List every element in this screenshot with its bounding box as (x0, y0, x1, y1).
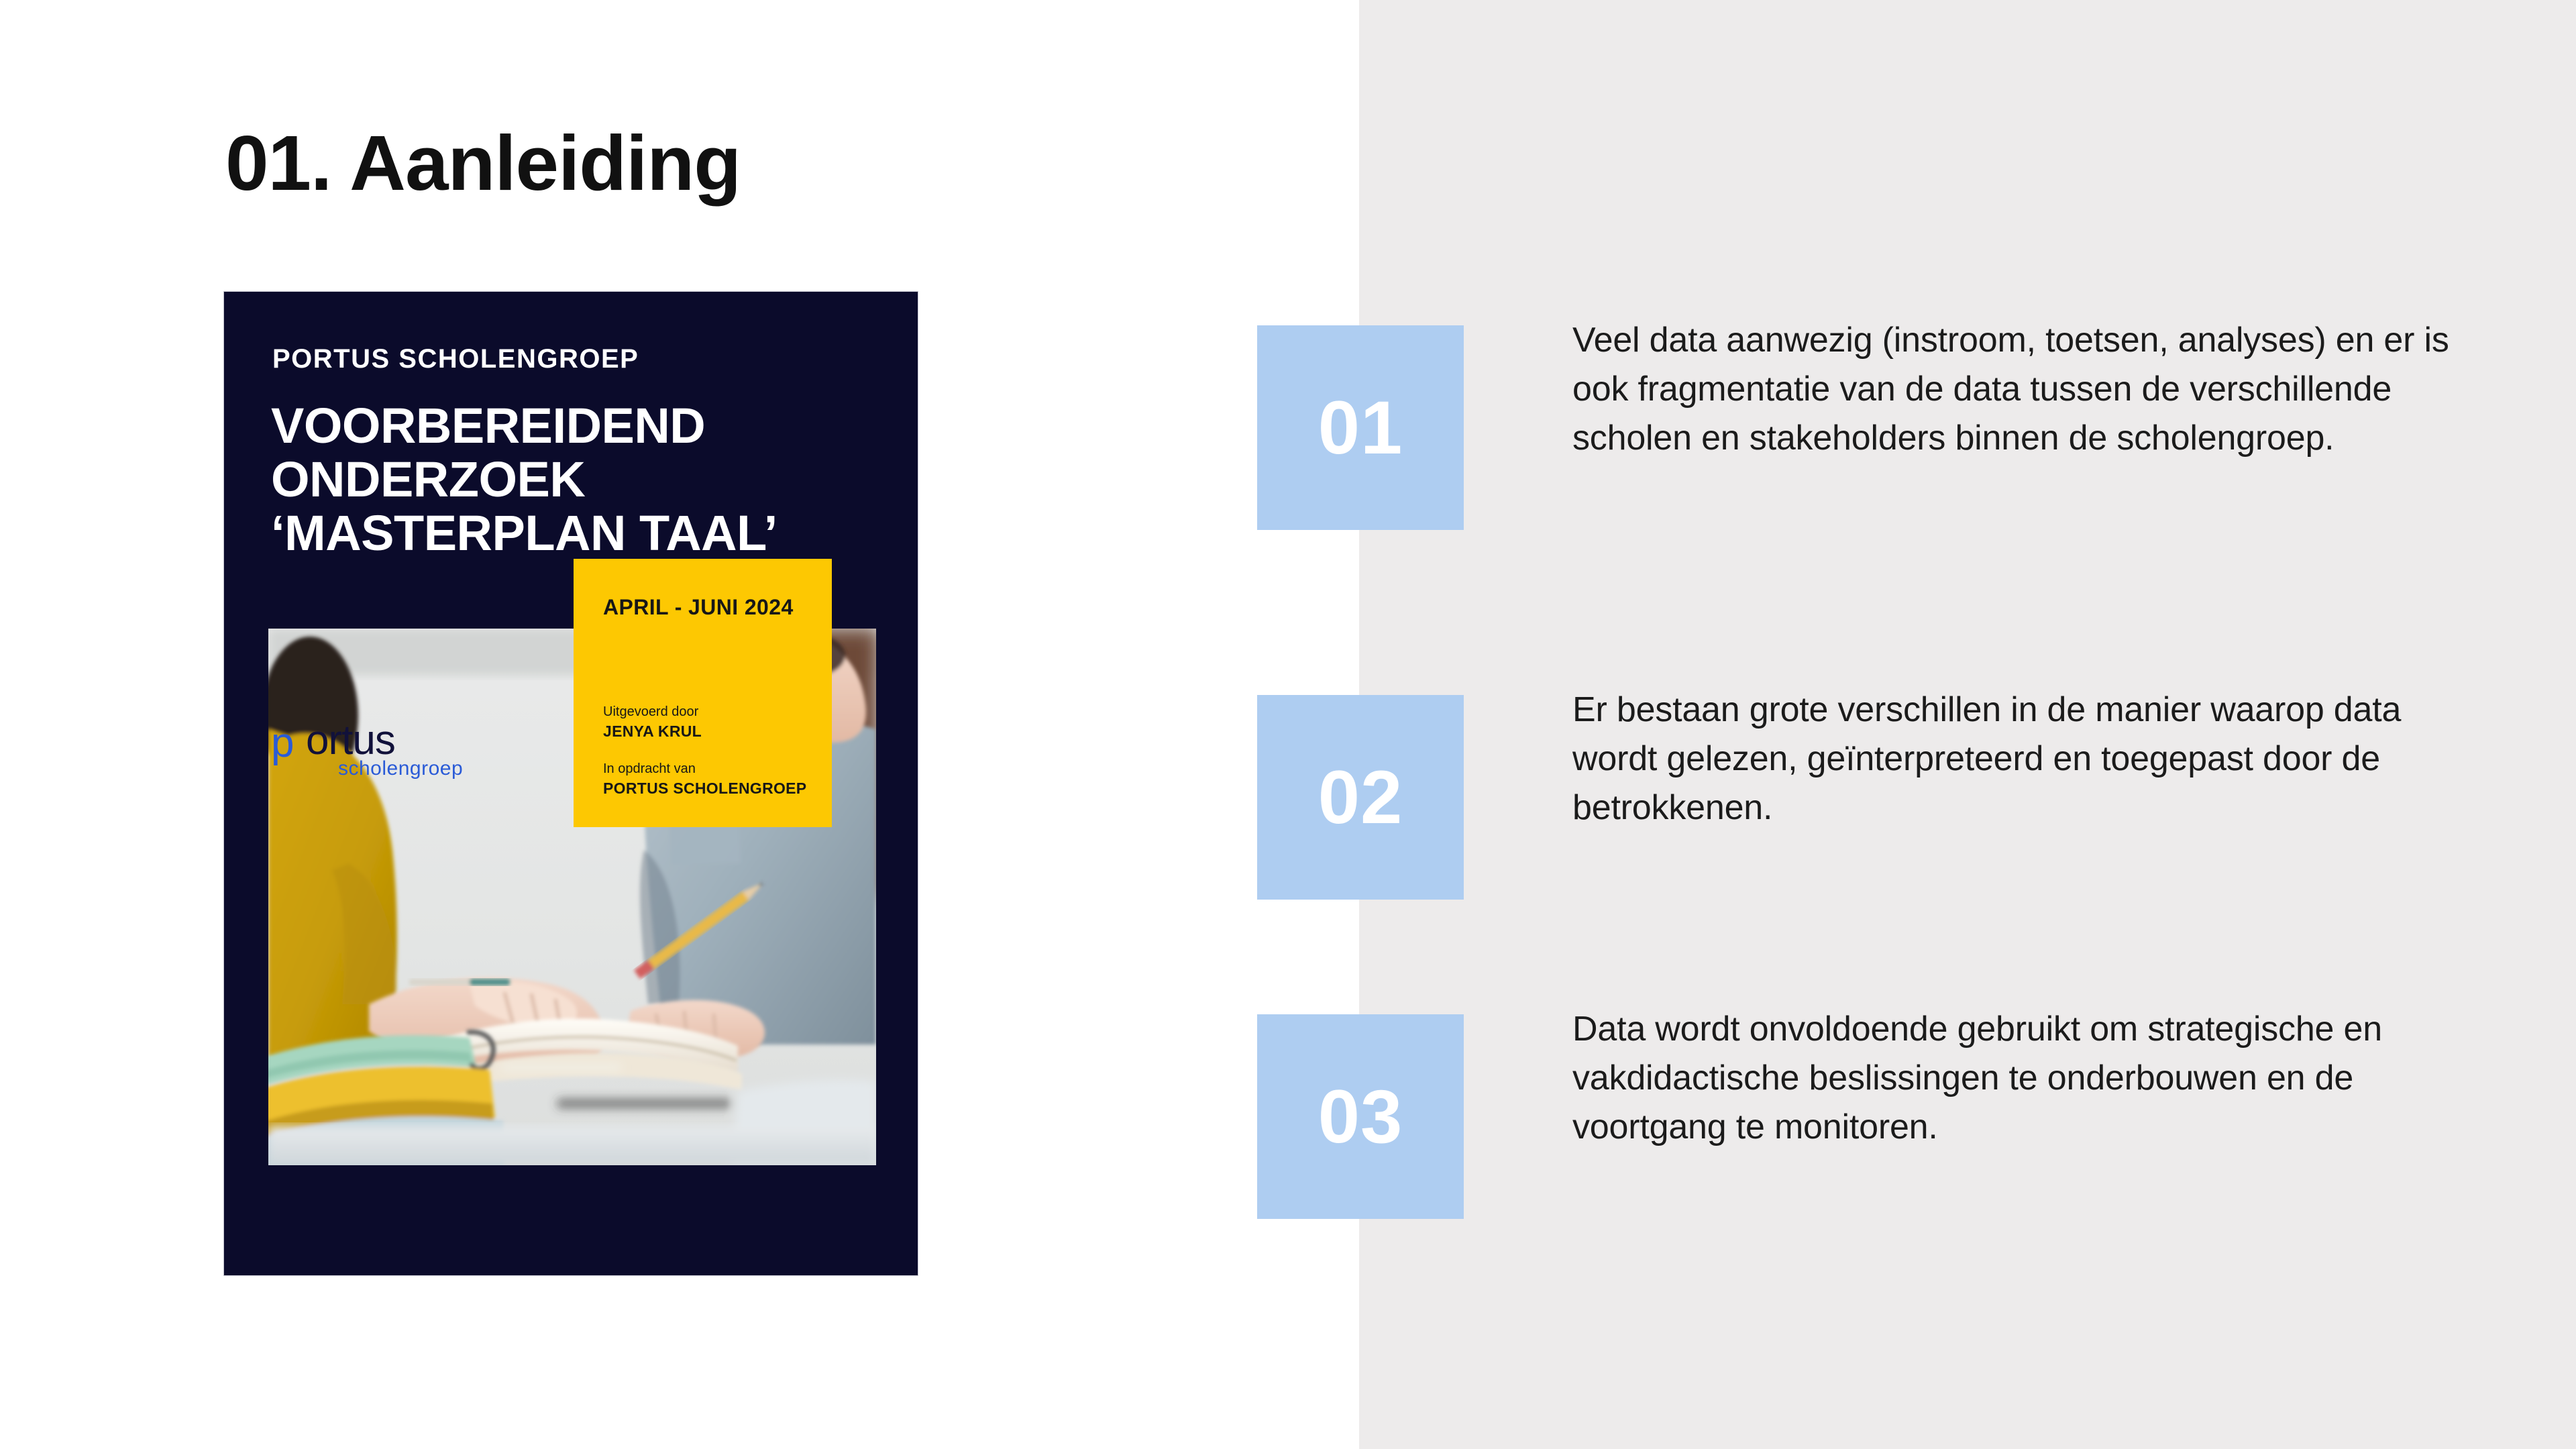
cover-executed-by-value: JENYA KRUL (603, 721, 702, 742)
finding-text-02: Er bestaan grote verschillen in de manie… (1572, 686, 2471, 832)
finding-badge-02: 02 (1257, 695, 1464, 900)
page-title: 01. Aanleiding (225, 121, 741, 207)
finding-badge-03: 03 (1257, 1014, 1464, 1219)
cover-executed-by-label: Uitgevoerd door (603, 703, 702, 721)
finding-badge-number-01: 01 (1318, 390, 1403, 466)
cover-title: VOORBEREIDEND ONDERZOEK ‘MASTERPLAN TAAL… (271, 399, 875, 560)
cover-period-label: APRIL - JUNI 2024 (603, 595, 794, 620)
portus-logo-p-icon: p (271, 722, 293, 764)
cover-commissioned-by-label: In opdracht van (603, 760, 806, 778)
finding-badge-number-02: 02 (1318, 760, 1403, 835)
portus-logo-wordmark: p ortus (271, 720, 472, 761)
finding-badge-number-03: 03 (1318, 1079, 1403, 1155)
finding-item-01: 01 Veel data aanwezig (instroom, toetsen… (1257, 325, 2471, 530)
finding-text-01: Veel data aanwezig (instroom, toetsen, a… (1572, 316, 2471, 462)
cover-commissioned-by-value: PORTUS SCHOLENGROEP (603, 778, 806, 799)
finding-text-03: Data wordt onvoldoende gebruikt om strat… (1572, 1005, 2471, 1151)
cover-brand-label: PORTUS SCHOLENGROEP (272, 344, 639, 374)
report-cover-image: PORTUS SCHOLENGROEP VOORBEREIDEND ONDERZ… (224, 292, 918, 1275)
cover-info-box: APRIL - JUNI 2024 Uitgevoerd door JENYA … (574, 559, 832, 827)
portus-logo: p ortus scholengroep (271, 720, 472, 797)
portus-logo-word: ortus (306, 717, 395, 763)
finding-item-02: 02 Er bestaan grote verschillen in de ma… (1257, 695, 2471, 900)
finding-item-03: 03 Data wordt onvoldoende gebruikt om st… (1257, 1014, 2471, 1219)
cover-commissioned-by-block: In opdracht van PORTUS SCHOLENGROEP (603, 760, 806, 799)
slide-canvas: 01. Aanleiding PORTUS SCHOLENGROEP VOORB… (0, 0, 2576, 1449)
finding-badge-01: 01 (1257, 325, 1464, 530)
cover-executed-by-block: Uitgevoerd door JENYA KRUL (603, 703, 702, 742)
